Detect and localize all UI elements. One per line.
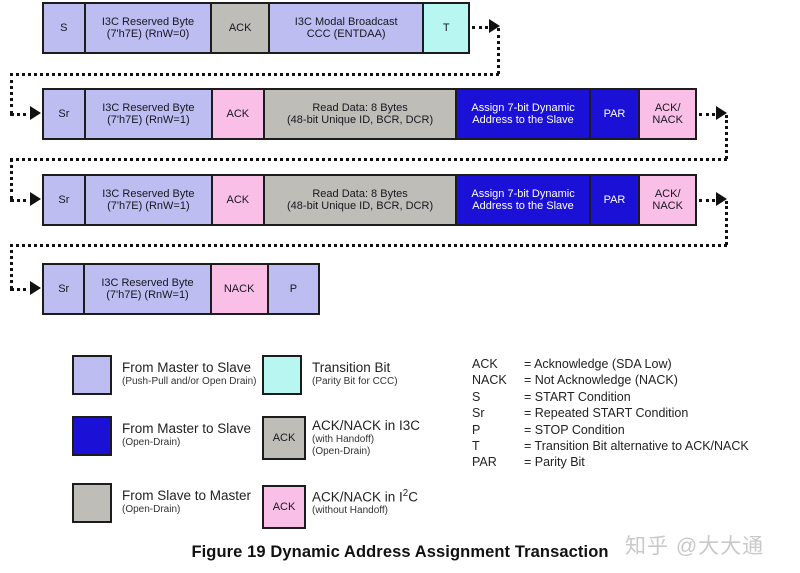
legend-label-ack-nack-i3c: ACK/NACK in I3C (with Handoff) (Open-Dra… [312, 418, 420, 458]
cell-line1: I3C Reserved Byte [101, 277, 193, 289]
abbreviation-value: = STOP Condition [524, 423, 749, 439]
abbreviation-row: Sr = Repeated START Condition [472, 406, 749, 422]
cell-line1: ACK/ [655, 188, 681, 200]
cell-line2: CCC (ENTDAA) [307, 28, 386, 40]
cell-ack-nack: ACK/ NACK [640, 90, 695, 138]
connector-1-segment-down [497, 28, 500, 74]
connector-1-segment-left [10, 73, 499, 76]
cell-ccc-entdaa: I3C Modal Broadcast CCC (ENTDAA) [270, 4, 425, 52]
cell-line1: Sr [58, 283, 69, 295]
cell-line1: NACK [224, 283, 255, 295]
cell-reserved-byte-write: I3C Reserved Byte (7'h7E) (RnW=0) [86, 4, 213, 52]
cell-line1: P [290, 283, 297, 295]
abbreviation-row: PAR = Parity Bit [472, 455, 749, 471]
cell-transition-bit: T [424, 4, 468, 52]
cell-line2: (48-bit Unique ID, BCR, DCR) [287, 200, 433, 212]
cell-ack-i3c: ACK [212, 4, 269, 52]
legend-label-slave-to-master-open-drain: From Slave to Master (Open-Drain) [122, 488, 251, 516]
abbreviation-key: NACK [472, 373, 524, 389]
legend-sub-text: (Open-Drain) [122, 504, 251, 516]
legend-main-text: From Master to Slave [122, 421, 251, 437]
legend-swatch-ack-nack-i2c: ACK [262, 485, 306, 529]
legend-main-text: From Master to Slave [122, 360, 257, 376]
cell-assign-dynamic-address: Assign 7-bit Dynamic Address to the Slav… [457, 176, 590, 224]
cell-parity-bit: PAR [591, 90, 641, 138]
cell-stop-condition: P [269, 265, 318, 313]
transaction-row-entdaa-broadcast: S I3C Reserved Byte (7'h7E) (RnW=0) ACK … [42, 2, 470, 54]
cell-start-condition: S [44, 4, 86, 52]
connector-1-arrowhead-row2 [30, 106, 41, 120]
transaction-row-assign-address-2: Sr I3C Reserved Byte (7'h7E) (RnW=1) ACK… [42, 174, 697, 226]
legend-swatch-master-to-slave-open-drain [72, 416, 112, 456]
transaction-row-terminate: Sr I3C Reserved Byte (7'h7E) (RnW=1) NAC… [42, 263, 320, 315]
cell-reserved-byte-read: I3C Reserved Byte (7'h7E) (RnW=1) [86, 176, 213, 224]
legend-sub-text: (without Handoff) [312, 505, 418, 517]
legend-swatch-transition-bit [262, 355, 302, 395]
cell-line2: NACK [652, 114, 683, 126]
legend-main-text: Transition Bit [312, 360, 398, 376]
cell-line2: (7'h7E) (RnW=0) [107, 28, 189, 40]
abbreviation-key: PAR [472, 455, 524, 471]
legend-main-text-head: ACK/NACK in I [312, 490, 403, 505]
cell-line2: (7'h7E) (RnW=1) [106, 289, 188, 301]
transaction-row-assign-address-1: Sr I3C Reserved Byte (7'h7E) (RnW=1) ACK… [42, 88, 697, 140]
legend-label-transition-bit: Transition Bit (Parity Bit for CCC) [312, 360, 398, 388]
abbreviation-row: P = STOP Condition [472, 423, 749, 439]
abbreviation-value: = Repeated START Condition [524, 406, 749, 422]
legend-main-text: From Slave to Master [122, 488, 251, 504]
cell-line1: I3C Modal Broadcast [295, 16, 398, 28]
legend-label-master-to-slave-push-pull: From Master to Slave (Push-Pull and/or O… [122, 360, 257, 388]
figure-canvas: S I3C Reserved Byte (7'h7E) (RnW=0) ACK … [0, 0, 800, 573]
legend-label-master-to-slave-open-drain: From Master to Slave (Open-Drain) [122, 421, 251, 449]
cell-line1: PAR [604, 108, 626, 120]
legend-swatch-master-to-slave-push-pull [72, 355, 112, 395]
abbreviation-row: S = START Condition [472, 390, 749, 406]
legend-main-text: ACK/NACK in I3C [312, 418, 420, 434]
cell-line1: Read Data: 8 Bytes [312, 188, 407, 200]
abbreviation-value: = Parity Bit [524, 455, 749, 471]
cell-line1: Read Data: 8 Bytes [312, 102, 407, 114]
cell-line2: (48-bit Unique ID, BCR, DCR) [287, 114, 433, 126]
cell-line1: ACK [227, 108, 250, 120]
abbreviation-key: S [472, 390, 524, 406]
legend-sub-text: (Parity Bit for CCC) [312, 376, 398, 388]
cell-line2: NACK [652, 200, 683, 212]
legend-label-ack-nack-i2c: ACK/NACK in I2C (without Handoff) [312, 488, 418, 517]
cell-line1: ACK [227, 194, 250, 206]
legend-swatch-label: ACK [273, 501, 296, 513]
cell-nack: NACK [212, 265, 269, 313]
abbreviation-row: NACK = Not Acknowledge (NACK) [472, 373, 749, 389]
connector-3-segment-down [725, 201, 728, 245]
cell-read-data: Read Data: 8 Bytes (48-bit Unique ID, BC… [265, 90, 458, 138]
abbreviation-value: = Acknowledge (SDA Low) [524, 357, 749, 373]
cell-line1: Assign 7-bit Dynamic [471, 188, 574, 200]
legend-main-text-tail: C [408, 490, 418, 505]
connector-2-segment-left [10, 158, 727, 161]
cell-line2: (7'h7E) (RnW=1) [107, 114, 189, 126]
connector-1-segment-down2 [10, 73, 13, 114]
abbreviation-row: T = Transition Bit alternative to ACK/NA… [472, 439, 749, 455]
cell-line1: I3C Reserved Byte [102, 16, 194, 28]
cell-line1: ACK [229, 22, 252, 34]
figure-caption: Figure 19 Dynamic Address Assignment Tra… [0, 543, 800, 562]
legend-swatch-ack-nack-i3c: ACK [262, 416, 306, 460]
cell-line1: PAR [604, 194, 626, 206]
cell-line1: ACK/ [655, 102, 681, 114]
abbreviation-key: T [472, 439, 524, 455]
connector-2-segment-down2 [10, 158, 13, 200]
abbreviation-value: = Transition Bit alternative to ACK/NACK [524, 439, 749, 455]
abbreviation-key: ACK [472, 357, 524, 373]
legend-sub-text: (with Handoff) [312, 434, 420, 446]
cell-line2: Address to the Slave [472, 200, 574, 212]
legend-swatch-label: ACK [273, 432, 296, 444]
cell-read-data: Read Data: 8 Bytes (48-bit Unique ID, BC… [265, 176, 458, 224]
abbreviation-key: P [472, 423, 524, 439]
connector-3-arrowhead-row4 [30, 281, 41, 295]
cell-ack-i2c: ACK [213, 176, 265, 224]
cell-parity-bit: PAR [591, 176, 641, 224]
connector-3-segment-left [10, 244, 727, 247]
abbreviation-legend: ACK = Acknowledge (SDA Low) NACK = Not A… [472, 357, 749, 472]
cell-line2: Address to the Slave [472, 114, 574, 126]
cell-line1: I3C Reserved Byte [102, 102, 194, 114]
legend-main-text: ACK/NACK in I2C [312, 488, 418, 505]
cell-line1: Sr [58, 108, 69, 120]
legend-sub-text: (Push-Pull and/or Open Drain) [122, 376, 257, 388]
cell-line2: (7'h7E) (RnW=1) [107, 200, 189, 212]
abbreviation-row: ACK = Acknowledge (SDA Low) [472, 357, 749, 373]
cell-line1: Sr [58, 194, 69, 206]
cell-reserved-byte-read: I3C Reserved Byte (7'h7E) (RnW=1) [85, 265, 211, 313]
cell-ack-i2c: ACK [213, 90, 265, 138]
cell-repeated-start: Sr [44, 90, 86, 138]
abbreviation-value: = START Condition [524, 390, 749, 406]
cell-line1: T [443, 22, 450, 34]
legend-sub-text-2: (Open-Drain) [312, 446, 420, 458]
connector-3-segment-down2 [10, 244, 13, 289]
cell-line1: S [60, 22, 67, 34]
legend-swatch-slave-to-master-open-drain [72, 483, 112, 523]
connector-2-arrowhead-row3 [30, 192, 41, 206]
connector-2-segment-down [725, 115, 728, 159]
cell-line1: I3C Reserved Byte [102, 188, 194, 200]
cell-repeated-start: Sr [44, 176, 86, 224]
cell-assign-dynamic-address: Assign 7-bit Dynamic Address to the Slav… [457, 90, 590, 138]
cell-reserved-byte-read: I3C Reserved Byte (7'h7E) (RnW=1) [86, 90, 213, 138]
abbreviation-key: Sr [472, 406, 524, 422]
cell-line1: Assign 7-bit Dynamic [471, 102, 574, 114]
cell-repeated-start: Sr [44, 265, 85, 313]
legend-sub-text: (Open-Drain) [122, 437, 251, 449]
abbreviation-value: = Not Acknowledge (NACK) [524, 373, 749, 389]
cell-ack-nack: ACK/ NACK [640, 176, 695, 224]
